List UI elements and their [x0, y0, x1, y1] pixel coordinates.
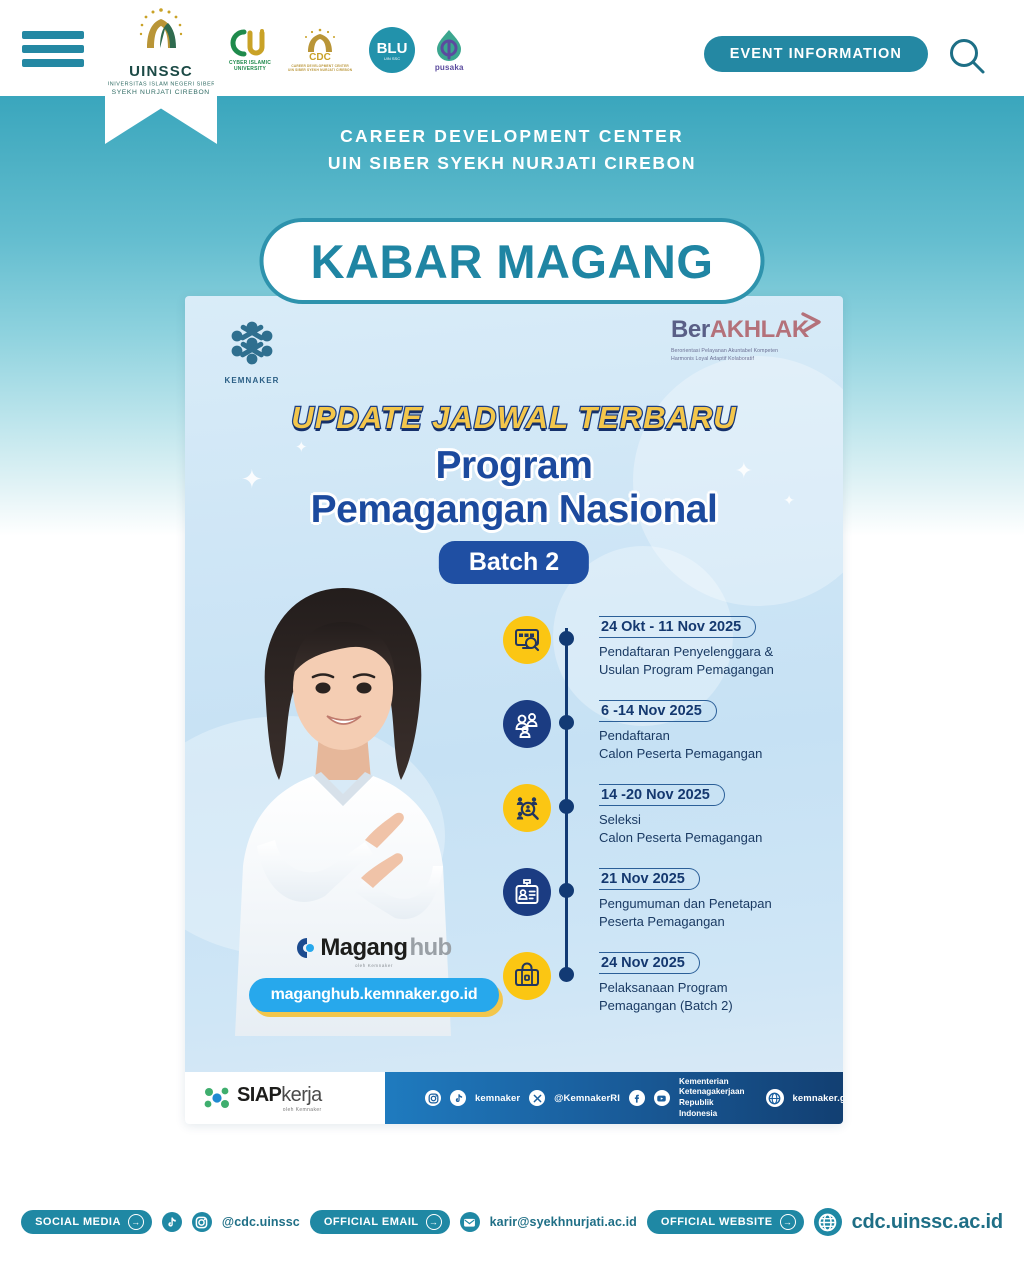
partner-logos-group: CYBER ISLAMIC UNIVERSITY CDC CAREER DEVE…	[228, 22, 466, 78]
official-website-chip[interactable]: OFFICIAL WEBSITE →	[647, 1210, 804, 1234]
timeline-desc-line-1: Seleksi	[599, 811, 823, 829]
timeline-date: 14 -20 Nov 2025	[599, 784, 725, 806]
timeline-dot	[559, 967, 574, 982]
tiktok-icon[interactable]	[450, 1090, 466, 1106]
pusaka-mark-icon	[432, 28, 466, 62]
maganghub-tagline: oleh Kemnaker	[249, 963, 499, 968]
page-root: EVENT INFORMATION	[0, 0, 1024, 1280]
berakhlak-part1: Ber	[671, 316, 710, 343]
svg-text:UIN SSC: UIN SSC	[384, 56, 400, 61]
kemnaker-mark-icon	[226, 320, 278, 366]
timeline-date: 6 -14 Nov 2025	[599, 700, 717, 722]
siapkerja-light: kerja	[281, 1084, 321, 1106]
official-website-label: OFFICIAL WEBSITE	[661, 1216, 773, 1228]
maganghub-block: Maganghub oleh Kemnaker maganghub.kemnak…	[249, 934, 499, 1012]
footer-website: cdc.uinssc.ac.id	[852, 1211, 1003, 1234]
timeline-item: 24 Nov 2025 Pelaksanaan Program Pemagang…	[503, 952, 823, 1018]
berakhlak-tagline-2: Harmonis Loyal Adaptif Kolaboratif	[671, 355, 821, 363]
x-twitter-icon[interactable]	[529, 1090, 545, 1106]
maganghub-url-badge[interactable]: maganghub.kemnaker.go.id	[249, 978, 499, 1012]
social-media-label: SOCIAL MEDIA	[35, 1216, 121, 1228]
instagram-icon[interactable]	[425, 1090, 441, 1106]
siapkerja-bold: SIAP	[237, 1084, 281, 1106]
siapkerja-logo: SIAPkerja oleh Kemnaker	[185, 1072, 385, 1124]
timeline-dot	[559, 715, 574, 730]
pusaka-logo: pusaka	[432, 28, 466, 73]
uinssc-subtitle-2: SYEKH NURJATI CIREBON	[112, 88, 210, 96]
monitor-search-icon	[503, 616, 551, 664]
timeline-desc-line-2: Calon Peserta Pemagangan	[599, 829, 823, 847]
banner-heading: CAREER DEVELOPMENT CENTER UIN SIBER SYEK…	[0, 126, 1024, 174]
official-email-label: OFFICIAL EMAIL	[324, 1216, 419, 1228]
people-group-icon	[503, 700, 551, 748]
briefcase-icon	[503, 952, 551, 1000]
berakhlak-tagline-1: Berorientasi Pelayanan Akuntabel Kompete…	[671, 347, 821, 355]
instagram-icon[interactable]	[192, 1212, 212, 1232]
blu-logo: BLU UIN SSC	[368, 26, 416, 74]
timeline-dot	[559, 631, 574, 646]
siapkerja-mark-icon	[203, 1085, 231, 1111]
timeline-desc-line-1: Pelaksanaan Program	[599, 979, 823, 997]
timeline-dot	[559, 799, 574, 814]
svg-text:BLU: BLU	[377, 40, 408, 57]
globe-icon[interactable]	[766, 1089, 784, 1107]
official-email-chip[interactable]: OFFICIAL EMAIL →	[310, 1210, 450, 1234]
berakhlak-part2: AKHLAK	[710, 316, 809, 343]
poster-x-handle: @KemnakerRI	[554, 1093, 620, 1104]
poster-program-line-1: Program	[185, 444, 843, 488]
blu-mark-icon: BLU UIN SSC	[368, 26, 416, 74]
uinssc-subtitle-1: UNIVERSITAS ISLAM NEGERI SIBER	[106, 81, 216, 87]
timeline-date: 21 Nov 2025	[599, 868, 700, 890]
timeline-item: 6 -14 Nov 2025 Pendaftaran Calon Peserta…	[503, 700, 823, 766]
uinssc-emblem-icon	[133, 4, 189, 60]
cyber-islamic-university-logo: CYBER ISLAMIC UNIVERSITY	[228, 28, 272, 73]
kemnaker-logo: KEMNAKER	[215, 320, 289, 385]
tiktok-icon[interactable]	[162, 1212, 182, 1232]
timeline-date: 24 Nov 2025	[599, 952, 700, 974]
timeline-desc-line-2: Peserta Pemagangan	[599, 913, 823, 931]
ministry-line-2: Republik Indonesia	[679, 1098, 745, 1119]
maganghub-main: Magang	[320, 934, 407, 962]
timeline-desc-line-2: Usulan Program Pemagangan	[599, 661, 823, 679]
svg-text:CDC: CDC	[309, 52, 331, 62]
berakhlak-swoosh-icon	[799, 312, 825, 334]
pusaka-caption: pusaka	[435, 63, 464, 73]
timeline-item: 14 -20 Nov 2025 Seleksi Calon Peserta Pe…	[503, 784, 823, 850]
candidate-search-icon	[503, 784, 551, 832]
poster-arc-title: UPDATE JADWAL TERBARU	[185, 400, 843, 436]
kemnaker-caption: KEMNAKER	[215, 376, 289, 385]
poster-social-bar: kemnaker @KemnakerRI Kementerian Ketenag…	[385, 1072, 843, 1124]
siapkerja-sub: oleh Kemnaker	[237, 1107, 322, 1113]
timeline-item: 24 Okt - 11 Nov 2025 Pendaftaran Penyele…	[503, 616, 823, 682]
timeline-list: 24 Okt - 11 Nov 2025 Pendaftaran Penyele…	[503, 616, 823, 1036]
footer-email: karir@syekhnurjati.ac.id	[490, 1215, 637, 1229]
search-icon[interactable]	[944, 34, 990, 80]
poster-image[interactable]: KEMNAKER BerAKHLAK Berorientasi Pelayana…	[185, 296, 843, 1124]
hamburger-menu-icon[interactable]	[22, 31, 84, 67]
poster-social-handle: kemnaker	[475, 1093, 520, 1104]
social-media-chip[interactable]: SOCIAL MEDIA →	[21, 1210, 152, 1234]
arrow-right-icon: →	[426, 1214, 442, 1230]
facebook-icon[interactable]	[629, 1090, 645, 1106]
poster-footer-bar: SIAPkerja oleh Kemnaker kemnaker @Ke	[185, 1072, 843, 1124]
cdc-caption: CAREER DEVELOPMENT CENTER UIN SIBER SYEK…	[288, 64, 352, 72]
page-footer-contact-bar: SOCIAL MEDIA → @cdc.uinssc OFFICIAL EMAI…	[0, 1208, 1024, 1236]
youtube-icon[interactable]	[654, 1090, 670, 1106]
banner-line-1: CAREER DEVELOPMENT CENTER	[0, 126, 1024, 147]
mail-icon[interactable]	[460, 1212, 480, 1232]
uinssc-name: UINSSC	[129, 63, 193, 80]
poster-program-line-2: Pemagangan Nasional	[185, 488, 843, 532]
timeline-desc-line-2: Pemagangan (Batch 2)	[599, 997, 823, 1015]
ciu-caption: CYBER ISLAMIC UNIVERSITY	[229, 60, 271, 73]
maganghub-mark-icon	[296, 937, 318, 959]
berakhlak-logo: BerAKHLAK Berorientasi Pelayanan Akuntab…	[671, 316, 821, 363]
ciu-mark-icon	[228, 28, 272, 58]
maganghub-wordmark: Maganghub	[249, 934, 499, 962]
globe-icon[interactable]	[814, 1208, 842, 1236]
banner-line-2: UIN SIBER SYEKH NURJATI CIREBON	[0, 153, 1024, 174]
timeline-item: 21 Nov 2025 Pengumuman dan Penetapan Pes…	[503, 868, 823, 934]
kabar-magang-title-pill: KABAR MAGANG	[260, 218, 765, 304]
event-information-button[interactable]: EVENT INFORMATION	[704, 36, 928, 72]
cdc-logo: CDC CAREER DEVELOPMENT CENTER UIN SIBER …	[288, 28, 352, 72]
timeline-desc-line-1: Pengumuman dan Penetapan	[599, 895, 823, 913]
page-title: KABAR MAGANG	[311, 234, 714, 289]
id-card-icon	[503, 868, 551, 916]
arrow-right-icon: →	[780, 1214, 796, 1230]
timeline-dot	[559, 883, 574, 898]
maganghub-sub: hub	[409, 934, 451, 962]
timeline-date: 24 Okt - 11 Nov 2025	[599, 616, 756, 638]
ministry-line-1: Kementerian Ketenagakerjaan	[679, 1077, 745, 1098]
poster-website: kemnaker.go.id	[793, 1093, 843, 1104]
timeline-desc-line-2: Calon Peserta Pemagangan	[599, 745, 823, 763]
footer-social-handle: @cdc.uinssc	[222, 1215, 300, 1229]
timeline-desc-line-1: Pendaftaran Penyelenggara &	[599, 643, 823, 661]
arrow-right-icon: →	[128, 1214, 144, 1230]
timeline-desc-line-1: Pendaftaran	[599, 727, 823, 745]
cdc-mark-icon: CDC	[297, 28, 343, 62]
